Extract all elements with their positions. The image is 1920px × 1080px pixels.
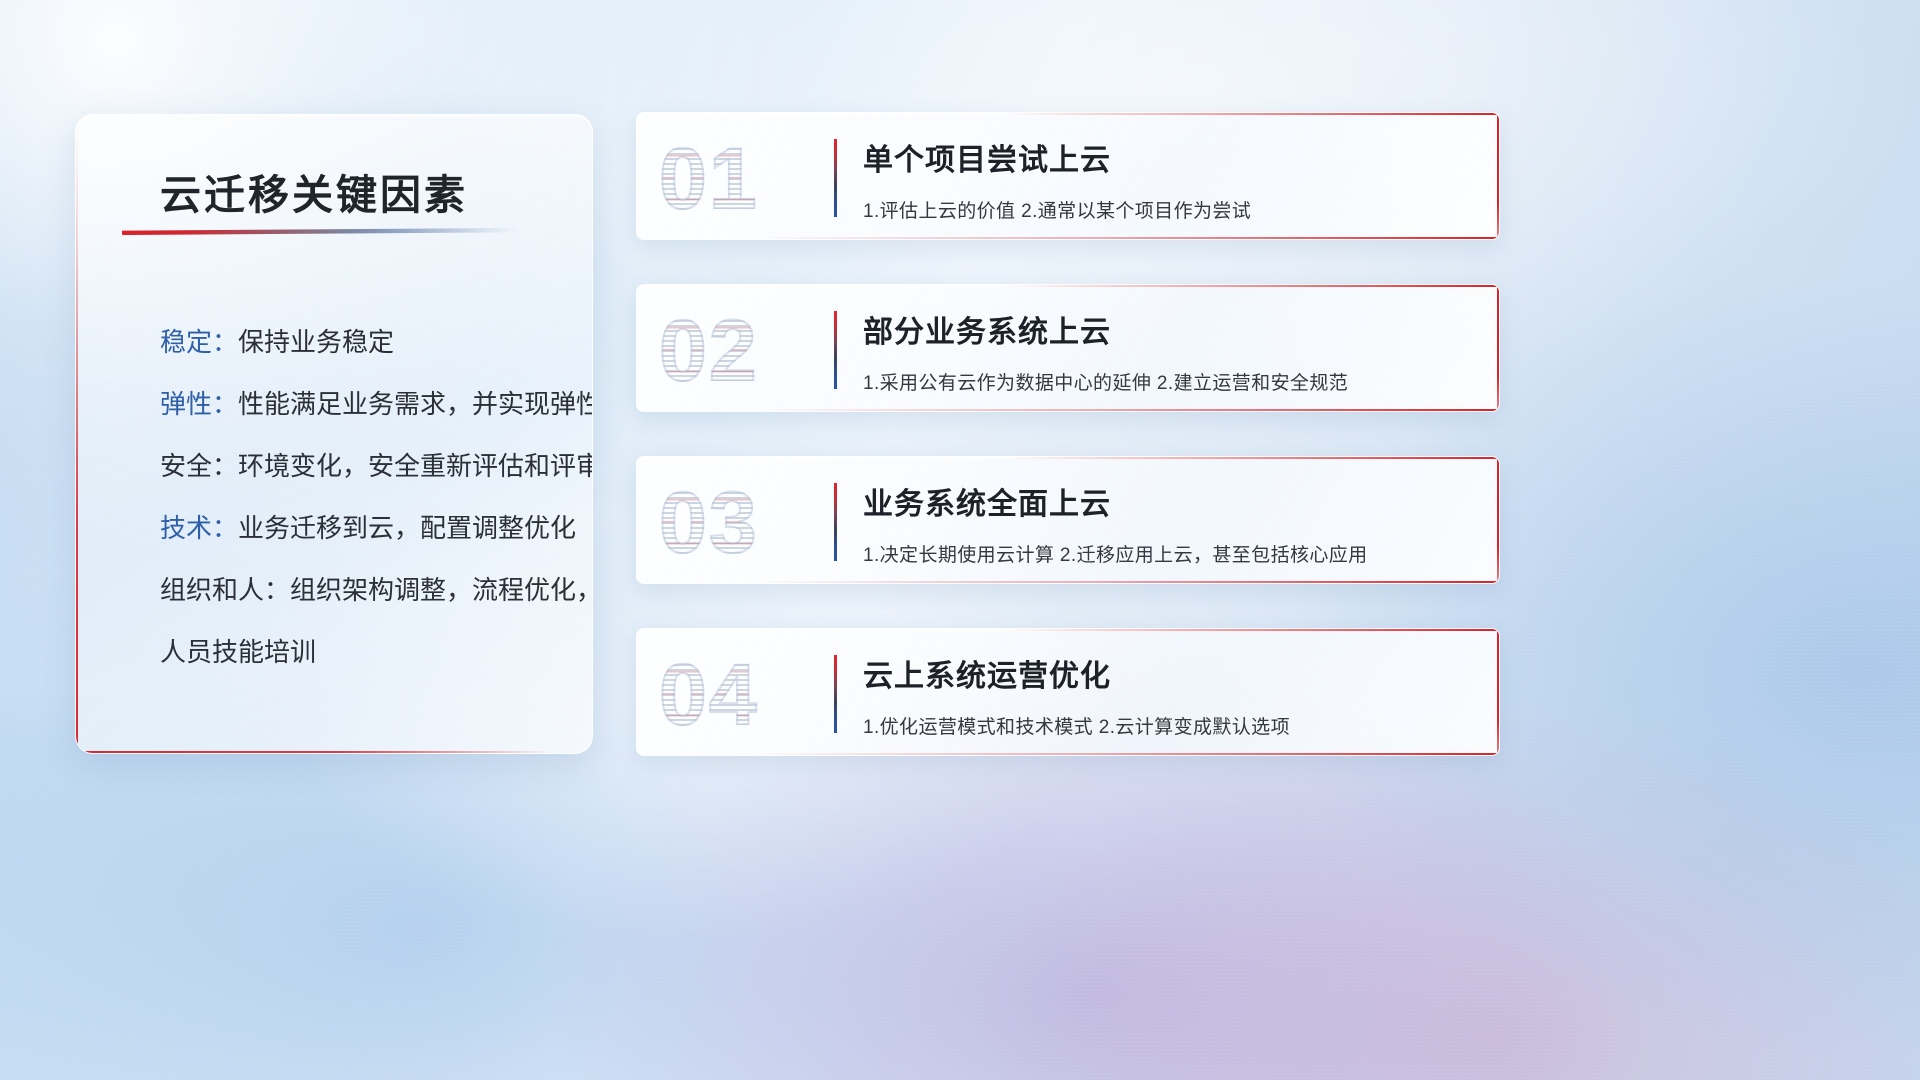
step-divider-bar	[834, 311, 837, 389]
list-item: 组织和人：组织架构调整，流程优化，	[160, 559, 564, 621]
card-bottom-edge	[757, 753, 1499, 755]
slide-stage: 云迁移关键因素 稳定：保持业务稳定 弹性：性能满足业务需求，并实现弹性 安全：环…	[0, 0, 1920, 1080]
panel-bottom-accent	[76, 751, 552, 753]
list-item-text: 组织架构调整，流程优化，	[290, 575, 593, 605]
list-item-text: 性能满足业务需求，并实现弹性	[238, 389, 593, 419]
card-right-edge	[1497, 457, 1499, 583]
step-number-striped: 01	[659, 133, 809, 225]
list-item-label: 安全：	[160, 451, 238, 481]
list-item: 安全：环境变化，安全重新评估和评审	[160, 435, 564, 497]
step-title: 部分业务系统上云	[863, 307, 1111, 351]
panel-top-highlight	[94, 115, 592, 117]
title-underline-gradient	[122, 228, 518, 235]
key-factors-list: 稳定：保持业务稳定 弹性：性能满足业务需求，并实现弹性 安全：环境变化，安全重新…	[160, 311, 564, 683]
card-bottom-edge	[757, 237, 1499, 239]
page-title: 云迁移关键因素	[160, 161, 468, 221]
step-card-03[interactable]: 03 03 业务系统全面上云 1.决定长期使用云计算 2.迁移应用上云，甚至包括…	[636, 456, 1500, 584]
step-card-01[interactable]: 01 01 单个项目尝试上云 1.评估上云的价值 2.通常以某个项目作为尝试	[636, 112, 1500, 240]
step-title: 云上系统运营优化	[863, 651, 1111, 695]
list-item-continuation: 人员技能培训	[160, 621, 564, 683]
step-divider-bar	[834, 139, 837, 217]
card-top-edge	[637, 285, 1499, 287]
card-right-edge	[1497, 113, 1499, 239]
step-description: 1.决定长期使用云计算 2.迁移应用上云，甚至包括核心应用	[863, 540, 1368, 567]
step-card-02[interactable]: 02 02 部分业务系统上云 1.采用公有云作为数据中心的延伸 2.建立运营和安…	[636, 284, 1500, 412]
list-item: 稳定：保持业务稳定	[160, 311, 564, 373]
step-card-04[interactable]: 04 04 云上系统运营优化 1.优化运营模式和技术模式 2.云计算变成默认选项	[636, 628, 1500, 756]
list-item: 弹性：性能满足业务需求，并实现弹性	[160, 373, 564, 435]
list-item-text: 人员技能培训	[160, 637, 316, 667]
step-title: 单个项目尝试上云	[863, 135, 1111, 179]
list-item-label: 稳定：	[160, 327, 238, 357]
card-top-edge	[637, 629, 1499, 631]
card-bottom-edge	[757, 409, 1499, 411]
panel-left-accent	[76, 129, 78, 753]
card-right-edge	[1497, 285, 1499, 411]
step-divider-bar	[834, 483, 837, 561]
list-item-label: 技术：	[160, 513, 238, 543]
list-item-label: 弹性：	[160, 389, 238, 419]
card-top-edge	[637, 113, 1499, 115]
step-description: 1.优化运营模式和技术模式 2.云计算变成默认选项	[863, 712, 1290, 739]
step-description: 1.采用公有云作为数据中心的延伸 2.建立运营和安全规范	[863, 368, 1348, 395]
step-number-striped: 02	[659, 305, 809, 397]
list-item-text: 环境变化，安全重新评估和评审	[238, 451, 593, 481]
key-factors-panel: 云迁移关键因素 稳定：保持业务稳定 弹性：性能满足业务需求，并实现弹性 安全：环…	[75, 114, 593, 754]
list-item-label: 组织和人：	[160, 575, 290, 605]
list-item: 技术：业务迁移到云，配置调整优化	[160, 497, 564, 559]
step-number-striped: 04	[659, 649, 809, 741]
step-title: 业务系统全面上云	[863, 479, 1111, 523]
card-top-edge	[637, 457, 1499, 459]
step-description: 1.评估上云的价值 2.通常以某个项目作为尝试	[863, 196, 1251, 223]
card-right-edge	[1497, 629, 1499, 755]
list-item-text: 业务迁移到云，配置调整优化	[238, 513, 576, 543]
step-divider-bar	[834, 655, 837, 733]
list-item-text: 保持业务稳定	[238, 327, 394, 357]
step-number-striped: 03	[659, 477, 809, 569]
card-bottom-edge	[757, 581, 1499, 583]
